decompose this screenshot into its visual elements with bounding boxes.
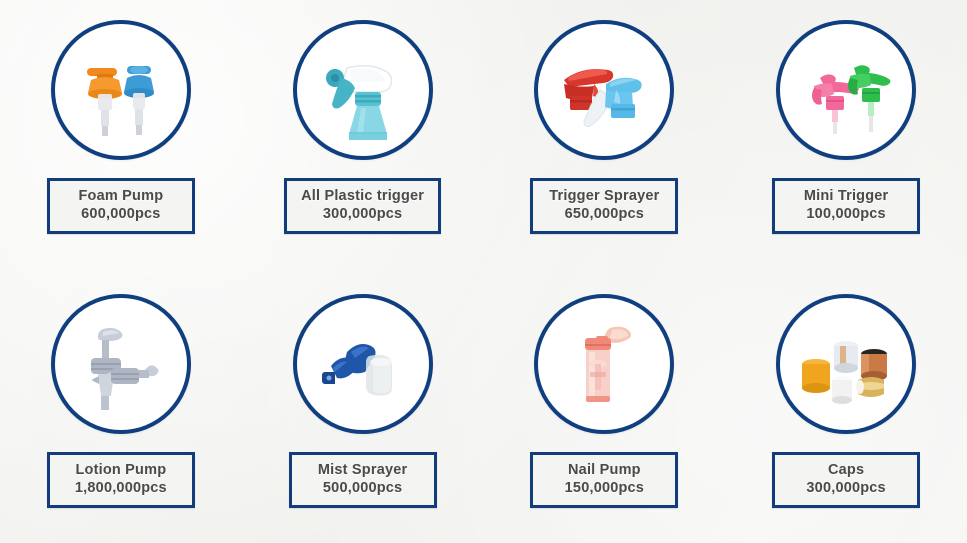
product-image-circle	[293, 20, 433, 160]
all-plastic-trigger-icon	[307, 34, 419, 146]
product-card-trigger-sprayer[interactable]: Trigger Sprayer 650,000pcs	[484, 0, 726, 272]
product-label: Mini Trigger 100,000pcs	[772, 178, 920, 234]
product-card-mist-sprayer[interactable]: Mist Sprayer 500,000pcs	[242, 272, 484, 543]
mist-sprayer-icon	[307, 308, 419, 420]
product-card-lotion-pump[interactable]: Lotion Pump 1,800,000pcs	[0, 272, 242, 543]
product-label: Nail Pump 150,000pcs	[530, 452, 678, 508]
product-label: Trigger Sprayer 650,000pcs	[530, 178, 678, 234]
product-quantity: 1,800,000pcs	[64, 480, 178, 497]
product-title: Mini Trigger	[789, 188, 903, 205]
product-title: All Plastic trigger	[301, 188, 424, 205]
product-quantity: 300,000pcs	[301, 206, 424, 223]
product-quantity: 650,000pcs	[547, 206, 661, 223]
product-card-all-plastic-trigger[interactable]: All Plastic trigger 300,000pcs	[242, 0, 484, 272]
product-card-nail-pump[interactable]: Nail Pump 150,000pcs	[484, 272, 726, 543]
product-label: All Plastic trigger 300,000pcs	[284, 178, 441, 234]
product-grid: Foam Pump 600,000pcs	[0, 0, 967, 543]
mini-trigger-icon	[790, 34, 902, 146]
product-quantity: 600,000pcs	[64, 206, 178, 223]
product-card-mini-trigger[interactable]: Mini Trigger 100,000pcs	[725, 0, 967, 272]
product-image-circle	[51, 294, 191, 434]
product-image-circle	[51, 20, 191, 160]
caps-icon	[790, 308, 902, 420]
product-title: Mist Sprayer	[306, 462, 420, 479]
product-title: Trigger Sprayer	[547, 188, 661, 205]
product-label: Mist Sprayer 500,000pcs	[289, 452, 437, 508]
product-card-foam-pump[interactable]: Foam Pump 600,000pcs	[0, 0, 242, 272]
product-label: Foam Pump 600,000pcs	[47, 178, 195, 234]
lotion-pump-icon	[65, 308, 177, 420]
product-quantity: 100,000pcs	[789, 206, 903, 223]
product-image-circle	[776, 294, 916, 434]
product-label: Lotion Pump 1,800,000pcs	[47, 452, 195, 508]
product-quantity: 150,000pcs	[547, 480, 661, 497]
product-quantity: 300,000pcs	[789, 480, 903, 497]
product-title: Caps	[789, 462, 903, 479]
product-title: Lotion Pump	[64, 462, 178, 479]
product-image-circle	[534, 20, 674, 160]
product-title: Nail Pump	[547, 462, 661, 479]
trigger-sprayer-icon	[548, 34, 660, 146]
product-image-circle	[293, 294, 433, 434]
product-image-circle	[534, 294, 674, 434]
nail-pump-icon	[548, 308, 660, 420]
product-card-caps[interactable]: Caps 300,000pcs	[725, 272, 967, 543]
foam-pump-icon	[65, 34, 177, 146]
product-label: Caps 300,000pcs	[772, 452, 920, 508]
product-image-circle	[776, 20, 916, 160]
product-title: Foam Pump	[64, 188, 178, 205]
product-quantity: 500,000pcs	[306, 480, 420, 497]
